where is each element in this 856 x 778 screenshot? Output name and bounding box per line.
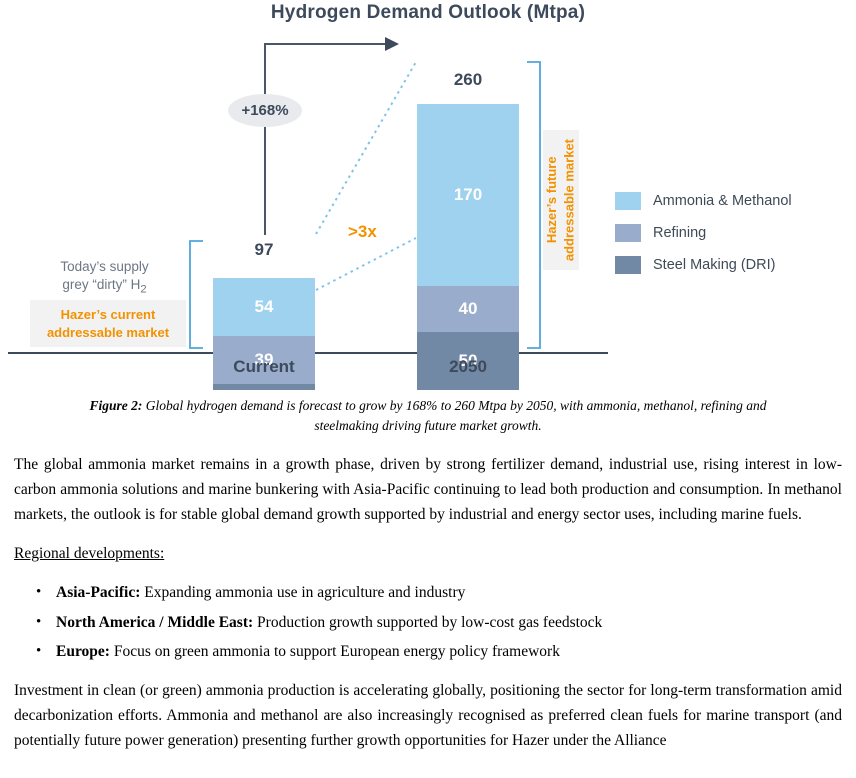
figure-caption-text: Global hydrogen demand is forecast to gr… [142,398,766,433]
figure-caption-prefix: Figure 2: [89,398,142,413]
bullet-lead-europe: Europe: [56,643,110,660]
legend-swatch-refining [615,224,641,242]
legend-item-steel[interactable]: Steel Making (DRI) [615,256,792,274]
chart-legend: Ammonia & Methanol Refining Steel Making… [615,192,792,288]
figure-hydrogen-demand-outlook: Hydrogen Demand Outlook (Mtpa) 54 39 170… [0,0,856,390]
section-heading-text: Regional developments [14,545,160,562]
bracket-future-market [527,62,540,348]
legend-swatch-steel [615,256,641,274]
x-axis-label-current: Current [184,357,344,377]
growth-percentage-badge: +168% [228,94,302,127]
bullet-text-europe: Focus on green ammonia to support Europe… [110,643,560,660]
connector-line-bottom [316,238,416,290]
multiplier-annotation: >3x [348,222,377,242]
bracket-current-market [190,241,203,348]
bar-2050[interactable]: 170 40 50 [417,104,519,390]
legend-swatch-ammonia [615,192,641,210]
bar-segment-ammonia-current: 54 [213,278,315,336]
list-item: North America / Middle East: Production … [40,610,842,635]
legend-item-ammonia[interactable]: Ammonia & Methanol [615,192,792,210]
bar-segment-steel-current [213,384,315,390]
bar-total-current: 97 [213,240,315,260]
legend-item-refining[interactable]: Refining [615,224,792,242]
regional-developments-list: Asia-Pacific: Expanding ammonia use in a… [14,580,842,663]
legend-label-steel: Steel Making (DRI) [653,257,775,273]
annotation-future-addressable-market: Hazer’s future addressable market [543,130,579,270]
bullet-text-north-america-middle-east: Production growth supported by low-cost … [253,614,602,631]
bullet-text-asia-pacific: Expanding ammonia use in agriculture and… [140,584,465,601]
annotation-current-addressable-market: Hazer’s currentaddressable market [30,300,186,347]
section-heading-colon: : [160,545,164,562]
paragraph-clean-ammonia-investment: Investment in clean (or green) ammonia p… [14,678,842,753]
legend-label-refining: Refining [653,225,706,241]
paragraph-ammonia-market: The global ammonia market remains in a g… [14,452,842,527]
document-body: The global ammonia market remains in a g… [14,452,842,767]
bullet-lead-asia-pacific: Asia-Pacific: [56,584,140,601]
bar-segment-ammonia-2050: 170 [417,104,519,286]
connector-line-top [316,62,416,234]
figure-caption: Figure 2: Global hydrogen demand is fore… [70,396,786,435]
bar-total-2050: 260 [417,70,519,90]
list-item: Europe: Focus on green ammonia to suppor… [40,639,842,664]
bullet-lead-north-america-middle-east: North America / Middle East: [56,614,253,631]
x-axis-label-2050: 2050 [388,357,548,377]
legend-label-ammonia: Ammonia & Methanol [653,193,792,209]
section-heading-regional-developments: Regional developments: [14,541,842,566]
bar-segment-refining-2050: 40 [417,286,519,332]
list-item: Asia-Pacific: Expanding ammonia use in a… [40,580,842,605]
annotation-todays-supply: Today’s supplygrey “dirty” H2 [22,258,187,298]
